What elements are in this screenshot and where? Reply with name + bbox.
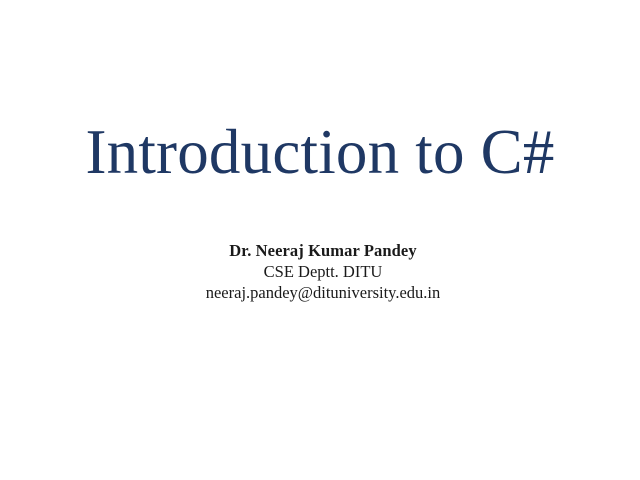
presenter-email: neeraj.pandey@dituniversity.edu.in	[3, 282, 640, 303]
slide-title-container: Introduction to C#	[0, 119, 640, 185]
page-title: Introduction to C#	[0, 119, 640, 185]
presenter-affiliation: CSE Deptt. DITU	[3, 261, 640, 282]
presenter-name: Dr. Neeraj Kumar Pandey	[3, 240, 640, 261]
slide-subtitle-container: Dr. Neeraj Kumar Pandey CSE Deptt. DITU …	[3, 240, 640, 303]
title-slide: Introduction to C# Dr. Neeraj Kumar Pand…	[0, 0, 640, 480]
